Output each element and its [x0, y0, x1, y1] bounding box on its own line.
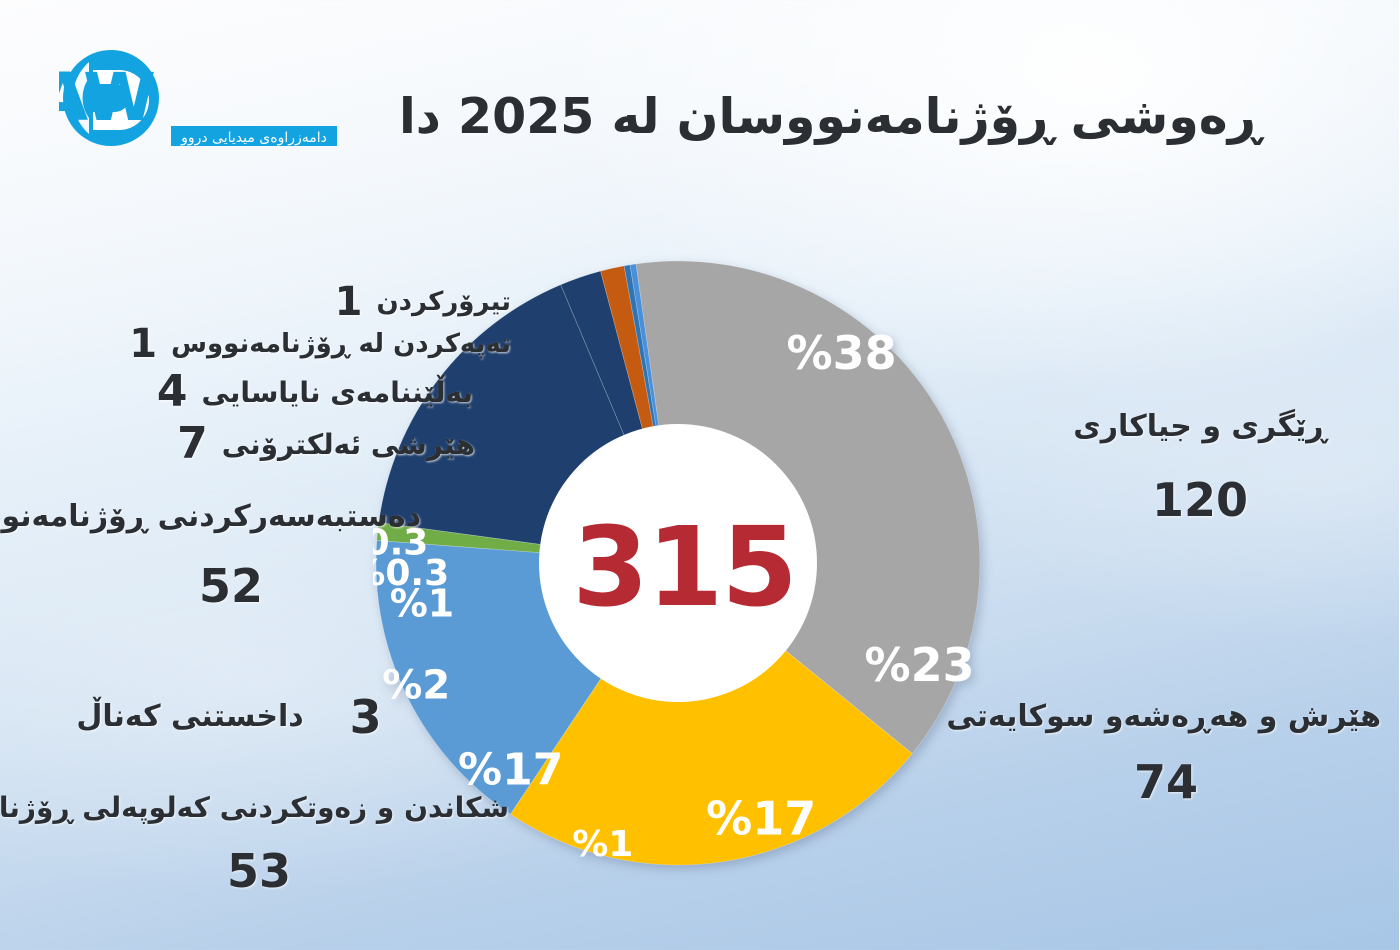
label-attacks-value: 74: [952, 757, 1382, 808]
label-barriers-name: ڕێگری و جیاکاری: [1036, 410, 1366, 445]
minor-labels-stack: تیرۆرکردن 1 تەپەکردن لە ڕۆژنامەنووس 1 بە…: [120, 282, 512, 468]
label-barriers-value: 120: [1036, 475, 1366, 526]
page-title: ڕەوشی ڕۆژنامەنووسان لە 2025 دا: [400, 88, 1280, 145]
donut-percent-detention: %17: [459, 745, 564, 796]
label-cyber-attack-name: هێرشی ئەلکترۆنی: [223, 428, 476, 461]
label-barriers: ڕێگری و جیاکاری 120: [1036, 410, 1366, 525]
donut-percent-equipment: %17: [707, 792, 817, 846]
donut-percent-channel-closure: %1: [573, 824, 634, 865]
label-detention-value: 52: [42, 561, 422, 612]
label-attacks: هێرش و هەڕەشەو سوکایەتی 74: [952, 700, 1382, 807]
label-illegal-pledge-name: بەڵێننامەی نایاسایی: [203, 376, 474, 409]
donut-hole: [540, 424, 818, 702]
label-channel-closure-value: 3: [351, 692, 383, 743]
label-assassination-value: 1: [336, 282, 364, 322]
label-illegal-pledge: بەڵێننامەی نایاسایی 4: [120, 370, 512, 414]
label-attacks-name: هێرش و هەڕەشەو سوکایەتی: [952, 700, 1382, 735]
label-detention: دەستبەسەرکردنی ڕۆژنامەنووس 52: [42, 500, 422, 611]
logo-tagline: دامەزراوەی میدیایی دروو: [172, 126, 338, 146]
label-channel-closure-name: داخستنی کەناڵ: [77, 700, 304, 735]
donut-percent-barriers: %38: [788, 326, 898, 380]
label-cyber-attack-value: 7: [178, 422, 209, 466]
donut-percent-attacks: %23: [866, 638, 976, 692]
label-suppression-name: تەپەکردن لە ڕۆژنامەنووس: [172, 329, 512, 359]
label-equipment-value: 53: [10, 846, 510, 897]
label-cyber-attack: هێرشی ئەلکترۆنی 7: [120, 422, 512, 466]
label-suppression-value: 1: [130, 324, 158, 364]
logo-wordmark: RAW: [60, 59, 155, 136]
label-channel-closure: 3 داخستنی کەناڵ: [30, 692, 430, 743]
svg-text:RAW: RAW: [60, 59, 155, 136]
label-suppression: تەپەکردن لە ڕۆژنامەنووس 1: [120, 324, 512, 364]
label-assassination-name: تیرۆرکردن: [377, 287, 512, 317]
label-assassination: تیرۆرکردن 1: [120, 282, 512, 322]
logo-tagline-text: دامەزراوەی میدیایی دروو: [181, 130, 328, 146]
draw-logo: RAW دامەزراوەی میدیایی دروو: [60, 48, 400, 158]
label-equipment: شکاندن و زەوتکردنی کەلوپەلی ڕۆژنامەنووسا…: [10, 792, 510, 897]
label-detention-name: دەستبەسەرکردنی ڕۆژنامەنووس: [42, 500, 422, 535]
label-equipment-name: شکاندن و زەوتکردنی کەلوپەلی ڕۆژنامەنووسا…: [10, 792, 510, 824]
label-illegal-pledge-value: 4: [158, 370, 189, 414]
